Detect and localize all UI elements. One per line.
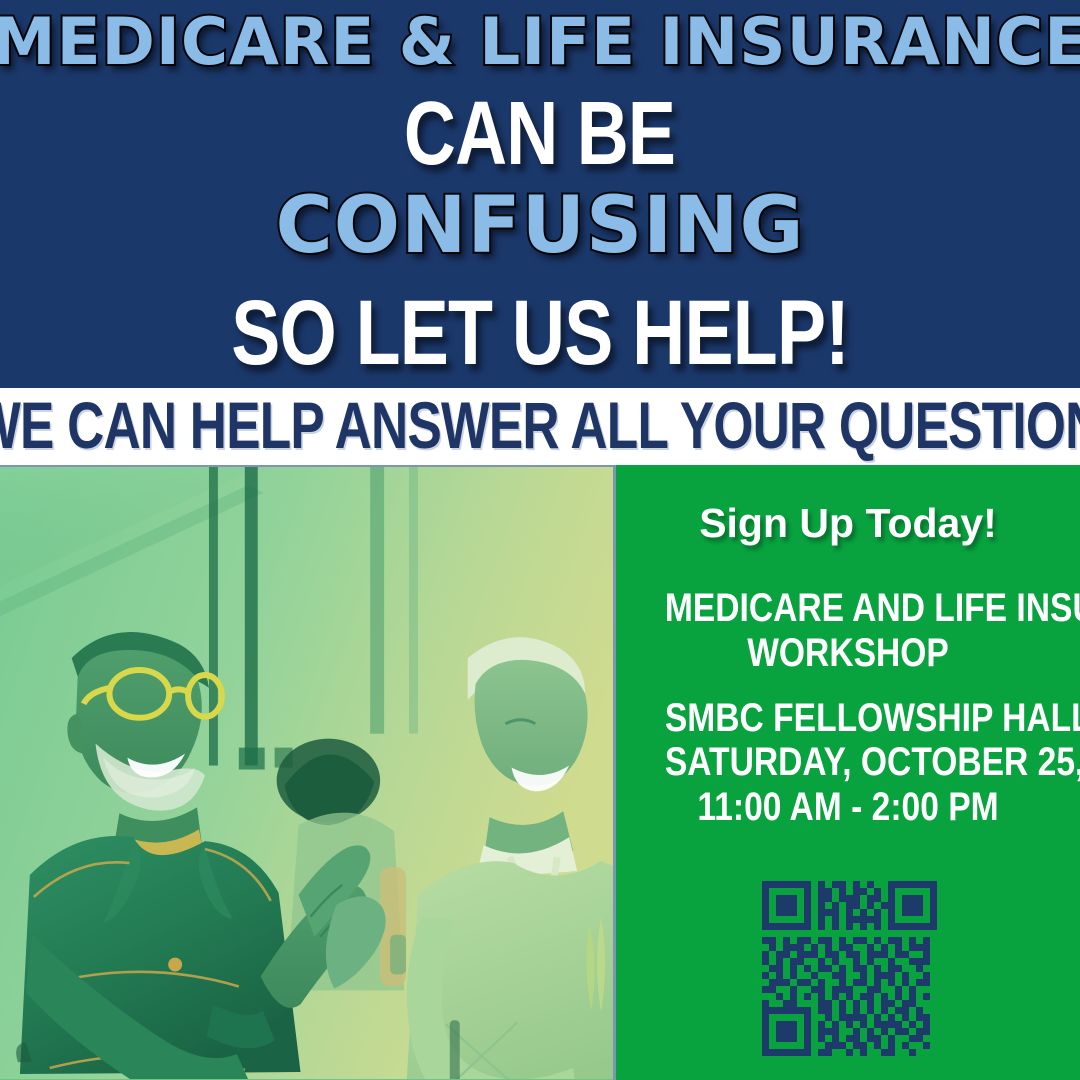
event-venue: SMBC FELLOWSHIP HALL — [665, 696, 1031, 741]
audience-photo-artwork — [0, 467, 613, 1079]
headline-line-3: CONFUSING — [276, 187, 805, 265]
audience-photo — [0, 465, 616, 1080]
headline-line-4: SO LET US HELP! — [231, 287, 849, 379]
event-title-line-2: WORKSHOP — [665, 631, 1031, 676]
qr-code-matrix[interactable] — [762, 881, 937, 1056]
header-section: MEDICARE & LIFE INSURANCE CAN BE CONFUSI… — [0, 0, 1080, 388]
headline-line-1: MEDICARE & LIFE INSURANCE — [0, 10, 1080, 75]
flyer-canvas: MEDICARE & LIFE INSURANCE CAN BE CONFUSI… — [0, 0, 1080, 1080]
event-details-block: MEDICARE AND LIFE INSURANCE WORKSHOP SMB… — [630, 586, 1066, 830]
event-date: SATURDAY, OCTOBER 25, 2025 — [665, 740, 1031, 785]
details-spacer — [630, 676, 1066, 696]
subheadline-banner: ...WE CAN HELP ANSWER ALL YOUR QUESTIONS… — [0, 388, 1080, 465]
header-text-stack: MEDICARE & LIFE INSURANCE CAN BE CONFUSI… — [0, 0, 1080, 388]
qr-code-icon[interactable] — [762, 881, 937, 1056]
event-title-line-1: MEDICARE AND LIFE INSURANCE — [665, 586, 1031, 631]
event-info-stack: Sign Up Today! MEDICARE AND LIFE INSURAN… — [616, 465, 1080, 1080]
headline-line-2: CAN BE — [404, 89, 675, 179]
event-time: 11:00 AM - 2:00 PM — [665, 785, 1031, 830]
sign-up-today-heading: Sign Up Today! — [699, 503, 997, 544]
event-info-panel: Sign Up Today! MEDICARE AND LIFE INSURAN… — [616, 465, 1080, 1080]
subheadline-text: ...WE CAN HELP ANSWER ALL YOUR QUESTIONS… — [0, 392, 1080, 462]
